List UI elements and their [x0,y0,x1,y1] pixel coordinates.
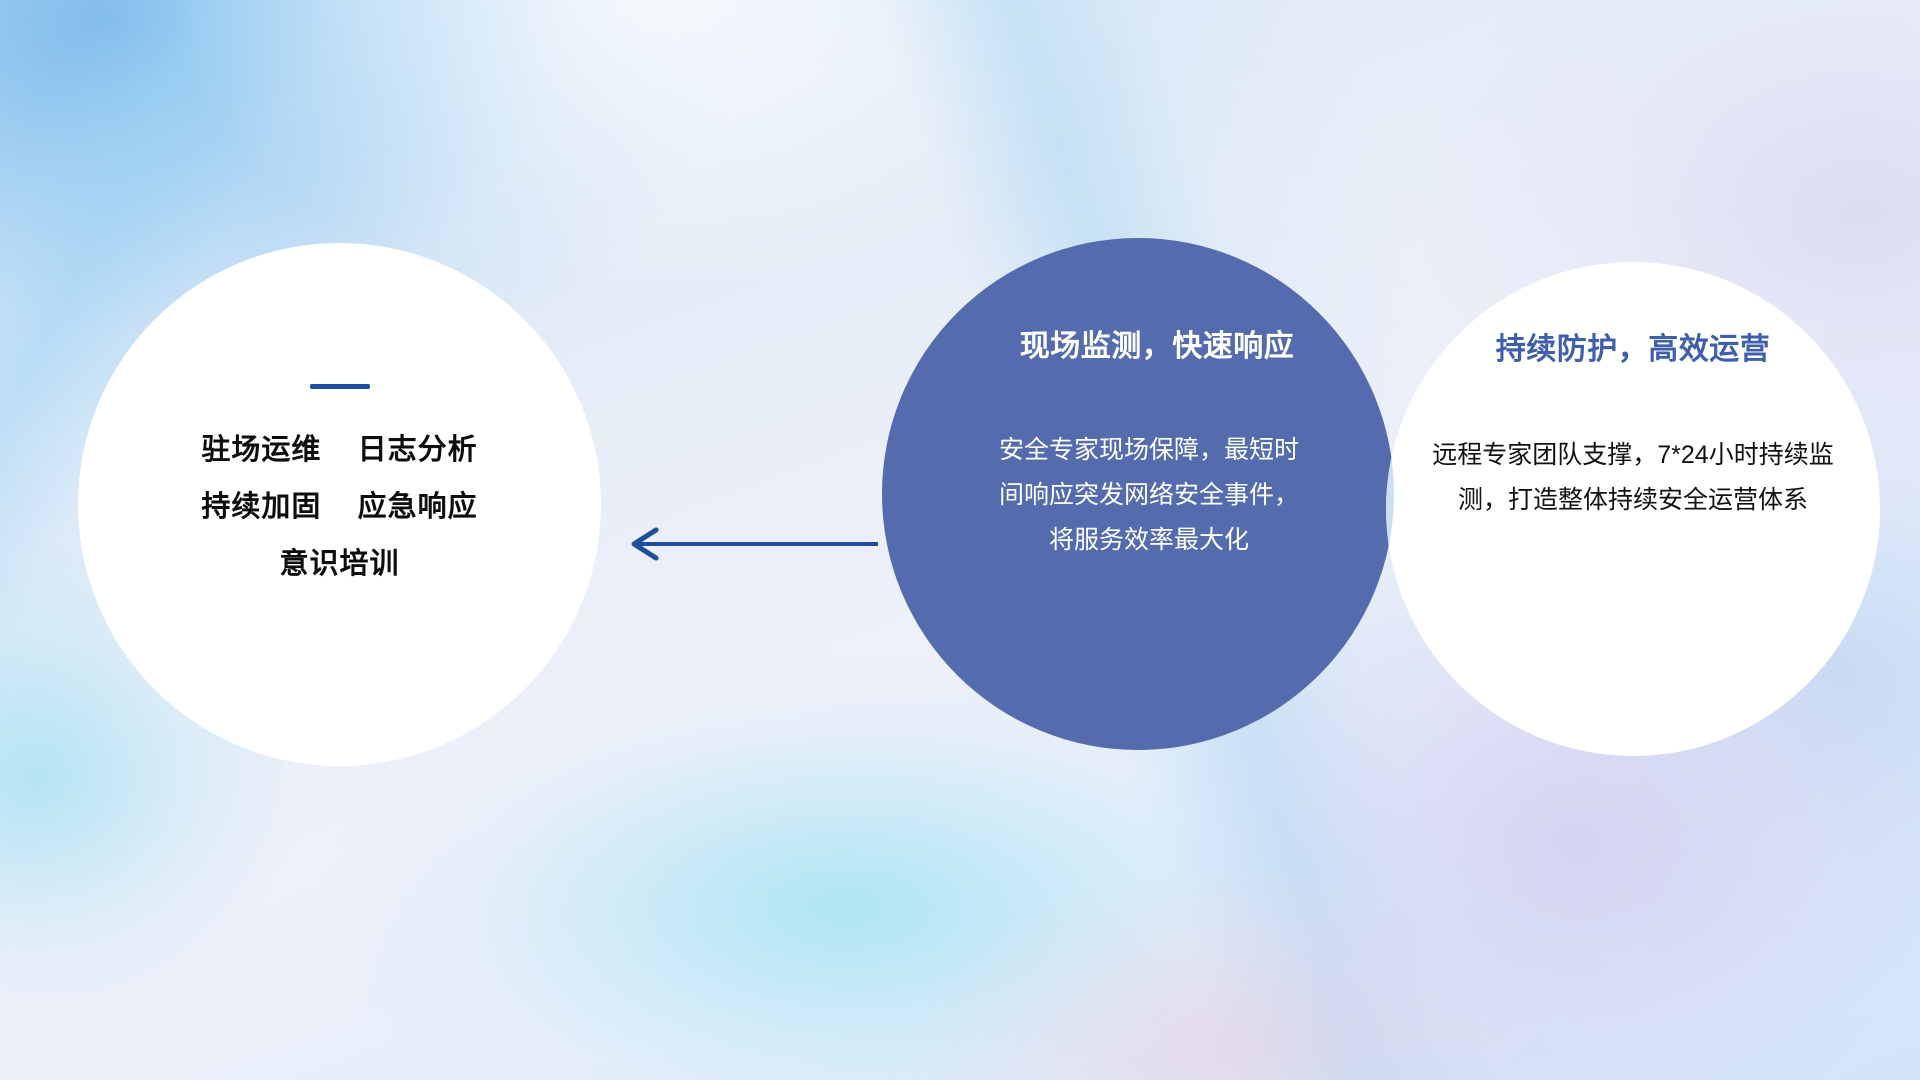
divider-line [310,384,370,389]
slide-canvas: 驻场运维 日志分析 持续加固 应急响应 意识培训 现场监测，快速响应 安全专家现… [0,0,1920,1080]
left-capability-list: 驻场运维 日志分析 持续加固 应急响应 意识培训 [201,436,477,579]
left-capability-line-2: 持续加固 应急响应 [201,493,477,522]
arrow-left-icon [620,520,880,568]
left-capability-circle[interactable]: 驻场运维 日志分析 持续加固 应急响应 意识培训 [78,243,601,766]
left-capability-line-1: 驻场运维 日志分析 [201,436,477,465]
mid-onsite-circle[interactable] [882,238,1394,750]
right-operations-circle[interactable] [1386,262,1880,756]
left-capability-line-3: 意识培训 [279,550,399,579]
